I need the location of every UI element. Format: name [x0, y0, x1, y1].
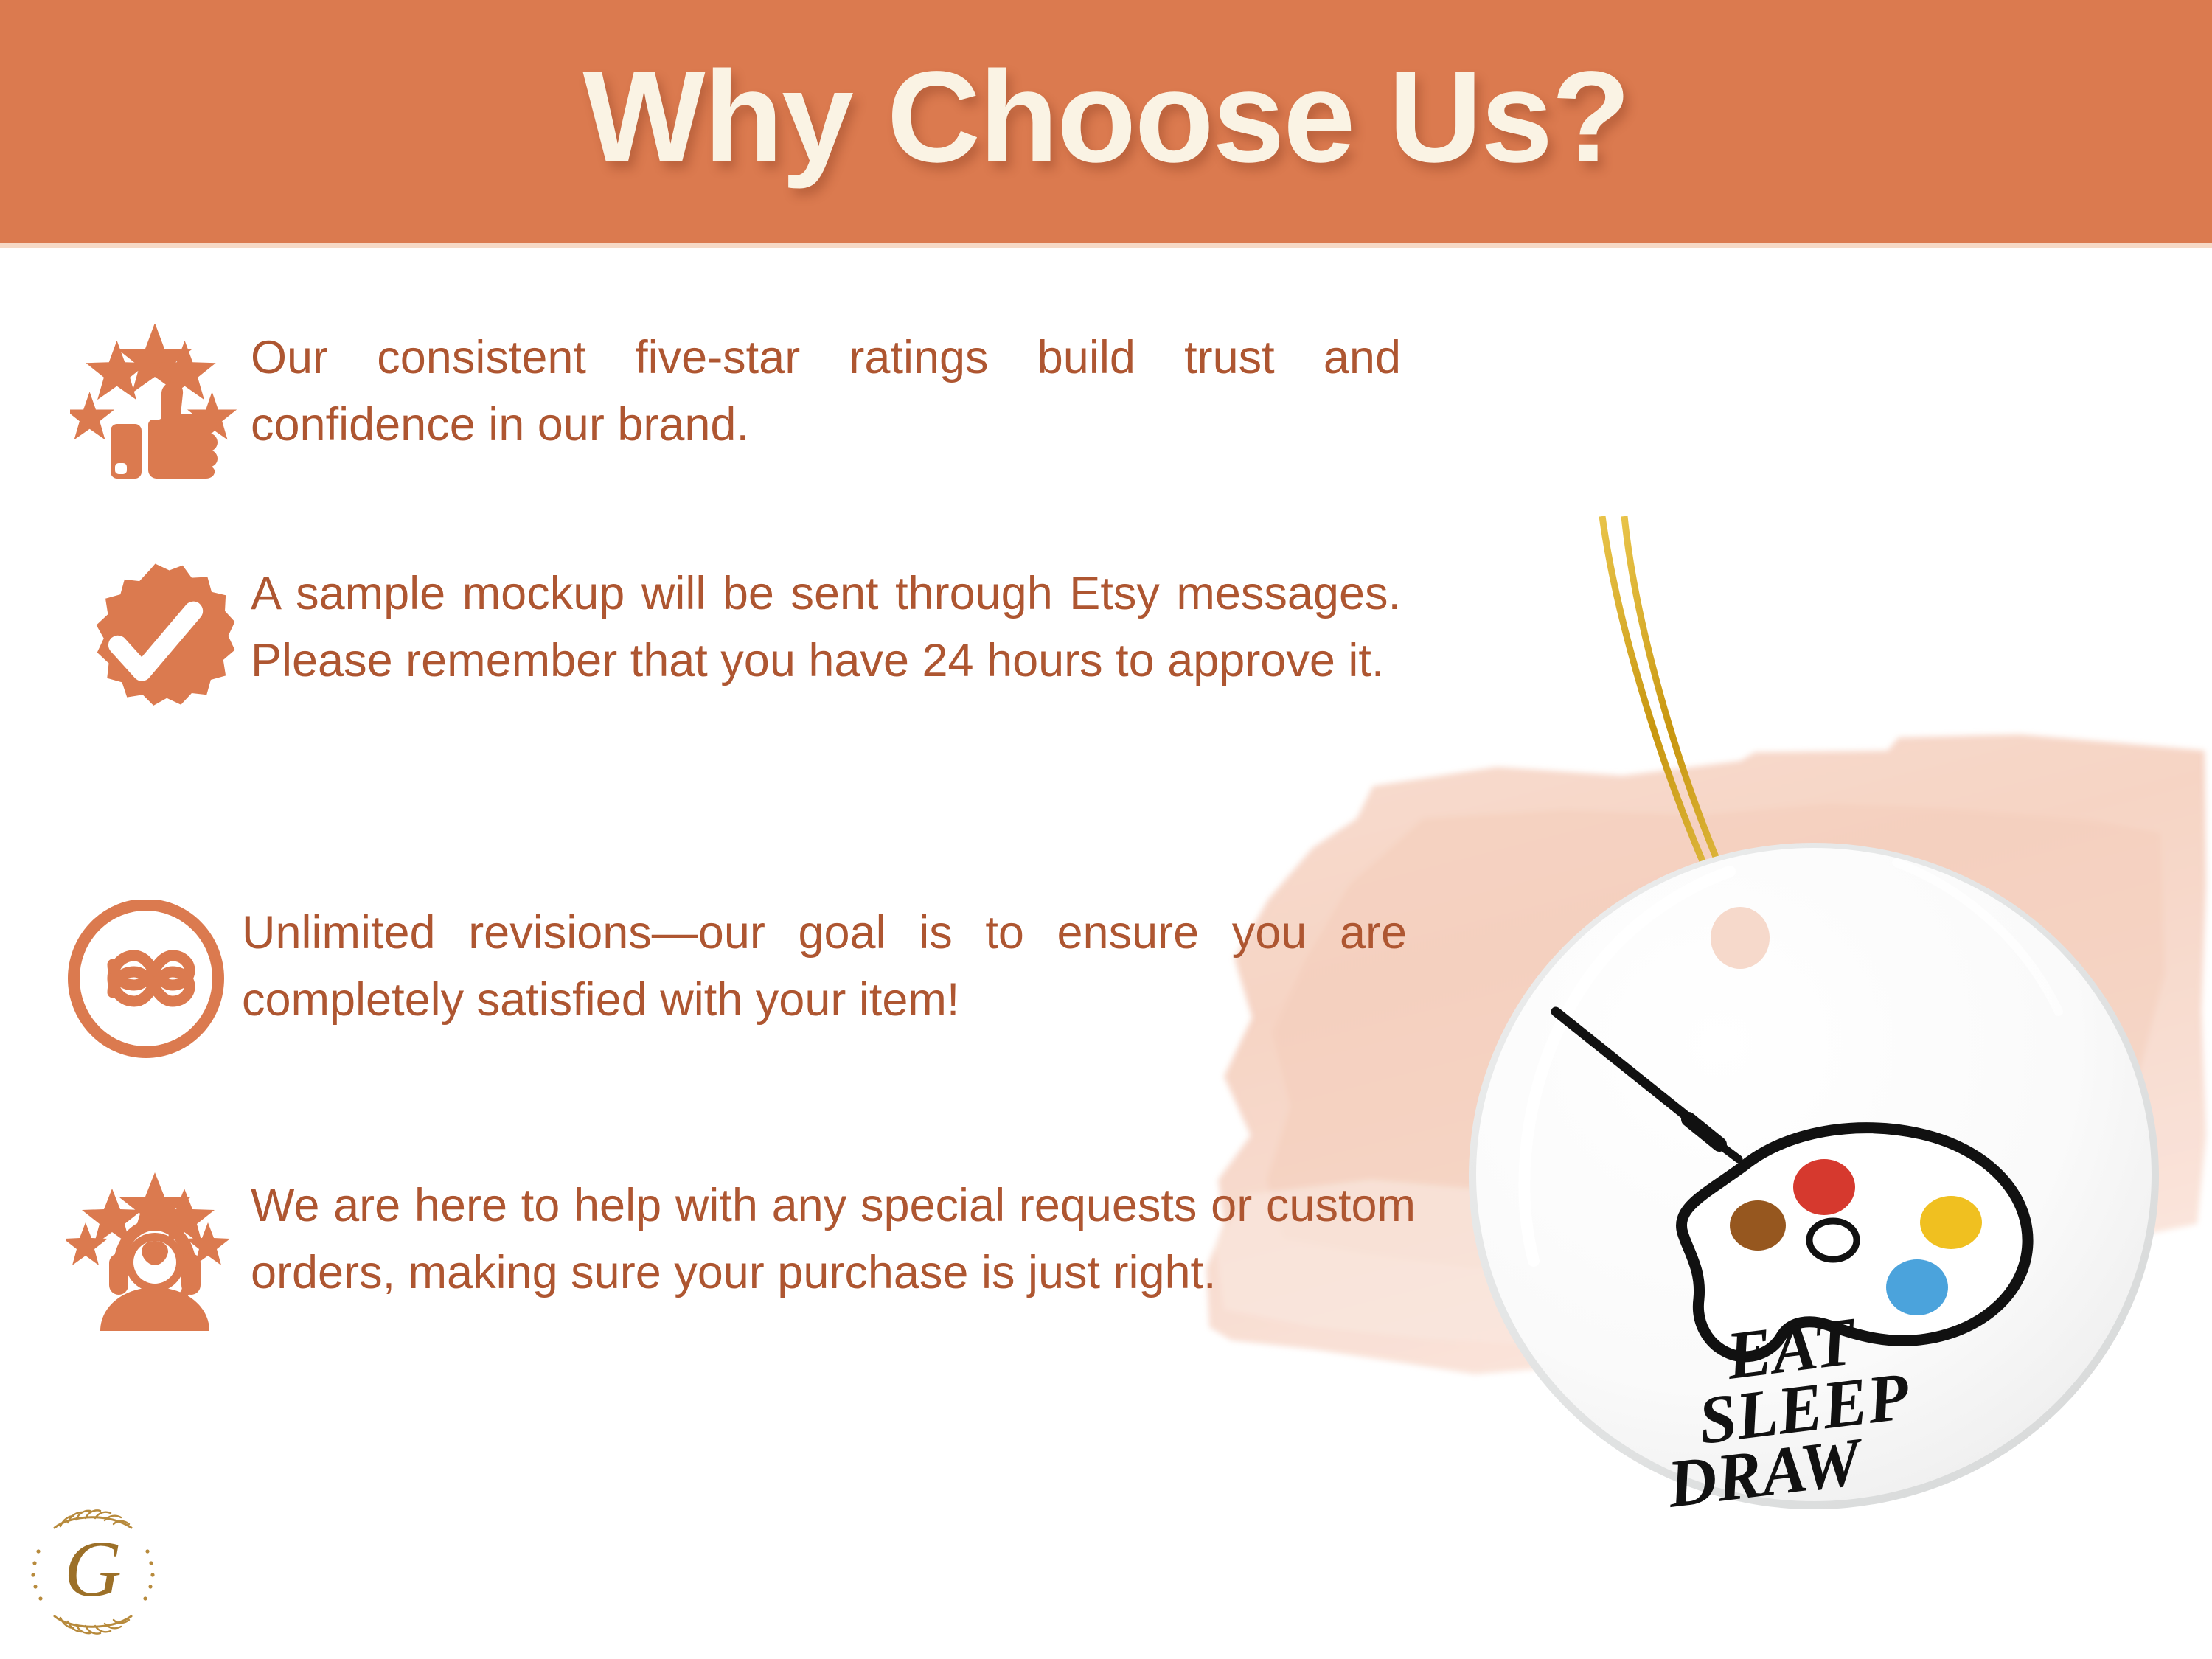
- feature-item: Our consistent five-star ratings build t…: [59, 324, 1401, 483]
- logo-monogram: G: [64, 1526, 122, 1613]
- feature-list: Our consistent five-star ratings build t…: [0, 243, 1475, 1497]
- feature-text: We are here to help with any special req…: [251, 1172, 1416, 1306]
- feature-text: Our consistent five-star ratings build t…: [251, 324, 1401, 458]
- customer-support-agent-stars-icon: [59, 1172, 251, 1331]
- verified-badge-check-icon: [59, 560, 251, 726]
- five-star-thumbs-up-icon: [59, 324, 251, 483]
- feature-item: A sample mockup will be sent through Ets…: [59, 560, 1401, 726]
- page-header: Why Choose Us?: [0, 0, 2212, 243]
- paint-dot-brown: [1730, 1200, 1786, 1251]
- page-title: Why Choose Us?: [582, 52, 1629, 182]
- paint-dot-yellow: [1920, 1196, 1982, 1249]
- product-ornament: EAT SLEEP DRAW: [1445, 516, 2212, 1512]
- feature-text: A sample mockup will be sent through Ets…: [251, 560, 1401, 694]
- feature-text: Unlimited revisions—our goal is to ensur…: [242, 900, 1407, 1033]
- paint-dot-blue: [1886, 1259, 1948, 1315]
- paint-dot-red: [1793, 1159, 1855, 1215]
- infinity-circle-icon: [50, 900, 242, 1058]
- brand-logo: G: [19, 1498, 167, 1646]
- feature-item: Unlimited revisions—our goal is to ensur…: [50, 900, 1407, 1058]
- feature-item: We are here to help with any special req…: [59, 1172, 1416, 1331]
